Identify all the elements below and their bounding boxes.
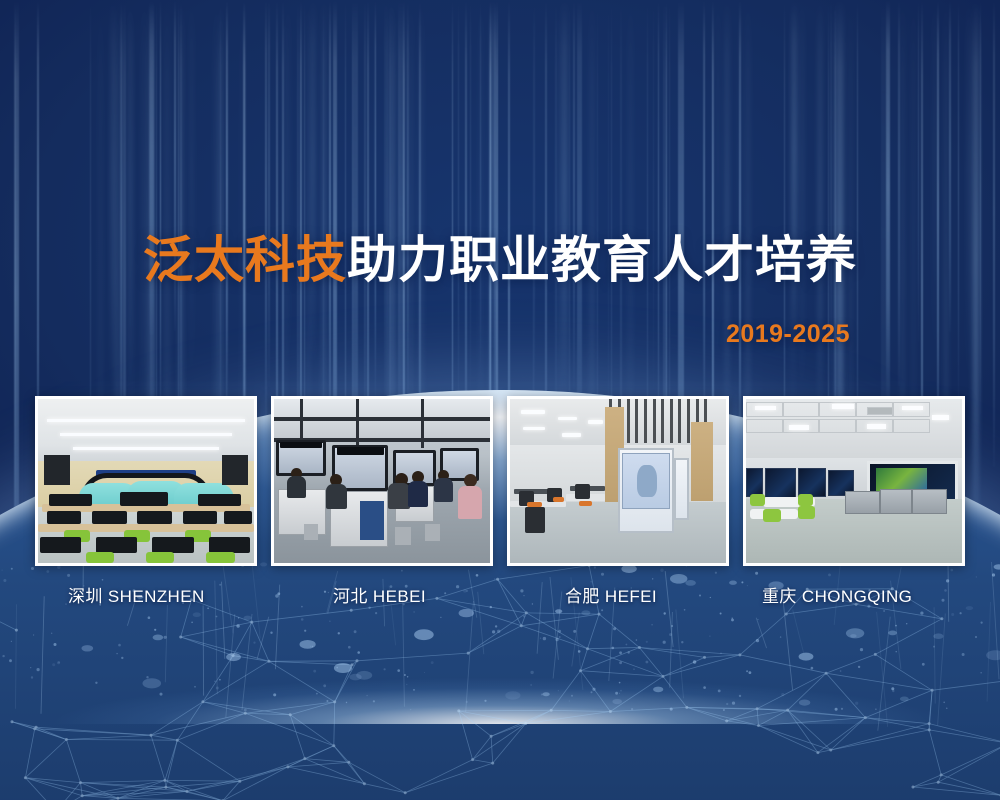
caption-hefei: 合肥 HEFEI bbox=[565, 582, 657, 607]
photo-scene-classroom bbox=[38, 399, 254, 563]
gallery-photo-shenzhen[interactable] bbox=[35, 396, 257, 566]
photo-scene-smart-lab bbox=[746, 399, 962, 563]
photo-scene-display-lab bbox=[510, 399, 726, 563]
photo-captions: 深圳 SHENZHEN 河北 HEBEI 合肥 HEFEI 重庆 CHONGQI… bbox=[35, 582, 965, 610]
poster-canvas: 泛太科技助力职业教育人才培养 2019-2025 bbox=[0, 0, 1000, 800]
page-title: 泛太科技助力职业教育人才培养 bbox=[0, 232, 1000, 288]
caption-shenzhen: 深圳 SHENZHEN bbox=[68, 582, 205, 607]
gallery-photo-hefei[interactable] bbox=[507, 396, 729, 566]
gallery-photo-hebei[interactable] bbox=[271, 396, 493, 566]
photo-scene-training-lab bbox=[274, 399, 490, 563]
caption-chongqing: 重庆 CHONGQING bbox=[762, 582, 912, 607]
title-block: 泛太科技助力职业教育人才培养 2019-2025 bbox=[0, 232, 1000, 288]
year-range: 2019-2025 bbox=[726, 320, 850, 349]
title-tagline: 助力职业教育人才培养 bbox=[347, 232, 857, 288]
caption-hebei: 河北 HEBEI bbox=[333, 582, 426, 607]
photo-gallery bbox=[35, 396, 965, 566]
gallery-photo-chongqing[interactable] bbox=[743, 396, 965, 566]
brand-name: 泛太科技 bbox=[143, 232, 347, 288]
